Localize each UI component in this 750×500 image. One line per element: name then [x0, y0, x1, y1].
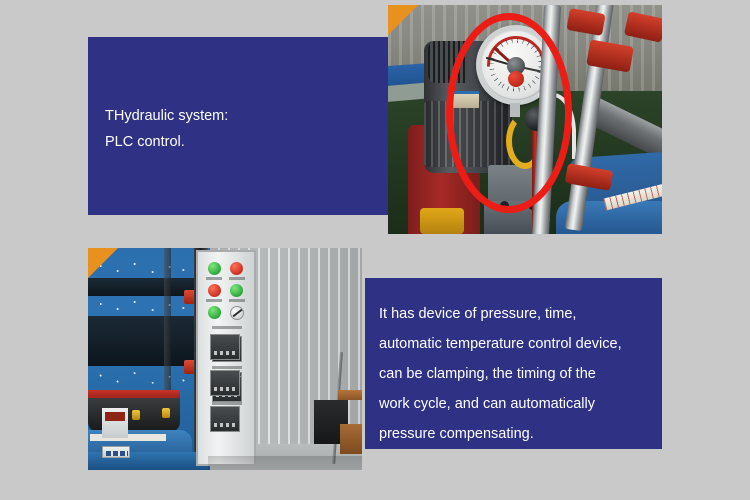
photo-button-label [206, 299, 222, 302]
photo-button-label [229, 299, 245, 302]
photo-indicator-green [208, 306, 221, 319]
pressure-features-line-2: automatic temperature control device, [379, 329, 659, 359]
red-ellipse-highlight-annotation [446, 13, 572, 213]
photo-yellow-bolt [162, 408, 170, 418]
photo-button-label [229, 277, 245, 280]
hydraulic-power-unit-photo [388, 5, 662, 234]
photo-wooden-board [338, 390, 362, 400]
photo-circuit-breaker [102, 446, 130, 458]
pressure-features-line-4: work cycle, and can automatically [379, 389, 659, 419]
product-feature-layout: THydraulic system: PLC control. [0, 0, 750, 500]
photo-indicator-green [208, 262, 221, 275]
pressure-features-line-5: pressure compensating. [379, 419, 659, 449]
photo-press-platen [88, 366, 194, 390]
photo-controller-display-3 [210, 406, 240, 432]
photo-indicator-red [230, 262, 243, 275]
photo-panel-label [212, 326, 242, 329]
photo-rotary-selector [230, 306, 244, 320]
photo-press-opening [88, 278, 194, 296]
photo-yellow-bolt [132, 410, 140, 420]
photo-wooden-crate [340, 424, 362, 454]
photo-press-opening [88, 316, 194, 366]
photo-timer-display [105, 412, 125, 421]
hydraulic-system-text-body: THydraulic system: PLC control. [105, 103, 228, 155]
hydraulic-system-line-2: PLC control. [105, 129, 228, 155]
photo-meter-label [212, 402, 242, 405]
pressure-features-text-body: It has device of pressure, time, automat… [379, 299, 659, 449]
photo-controller-display-2 [210, 370, 240, 396]
photo-floor-shadow [208, 456, 362, 470]
photo-meter-label [212, 366, 242, 369]
hydraulic-system-text-panel: THydraulic system: PLC control. [88, 37, 388, 215]
hydraulic-system-line-1: THydraulic system: [105, 103, 228, 129]
pressure-features-line-1: It has device of pressure, time, [379, 299, 659, 329]
orange-triangle-corner-marker [388, 5, 418, 35]
photo-button-label [206, 277, 222, 280]
orange-triangle-corner-marker [88, 248, 118, 278]
photo-indicator-green [230, 284, 243, 297]
press-control-panel-photo [88, 248, 362, 470]
pressure-features-text-panel: It has device of pressure, time, automat… [365, 278, 662, 449]
photo-yellow-plate [420, 208, 464, 234]
photo-indicator-red [208, 284, 221, 297]
pressure-features-line-3: can be clamping, the timing of the [379, 359, 659, 389]
photo-press-platen [88, 296, 194, 316]
photo-controller-display-1 [210, 334, 240, 360]
